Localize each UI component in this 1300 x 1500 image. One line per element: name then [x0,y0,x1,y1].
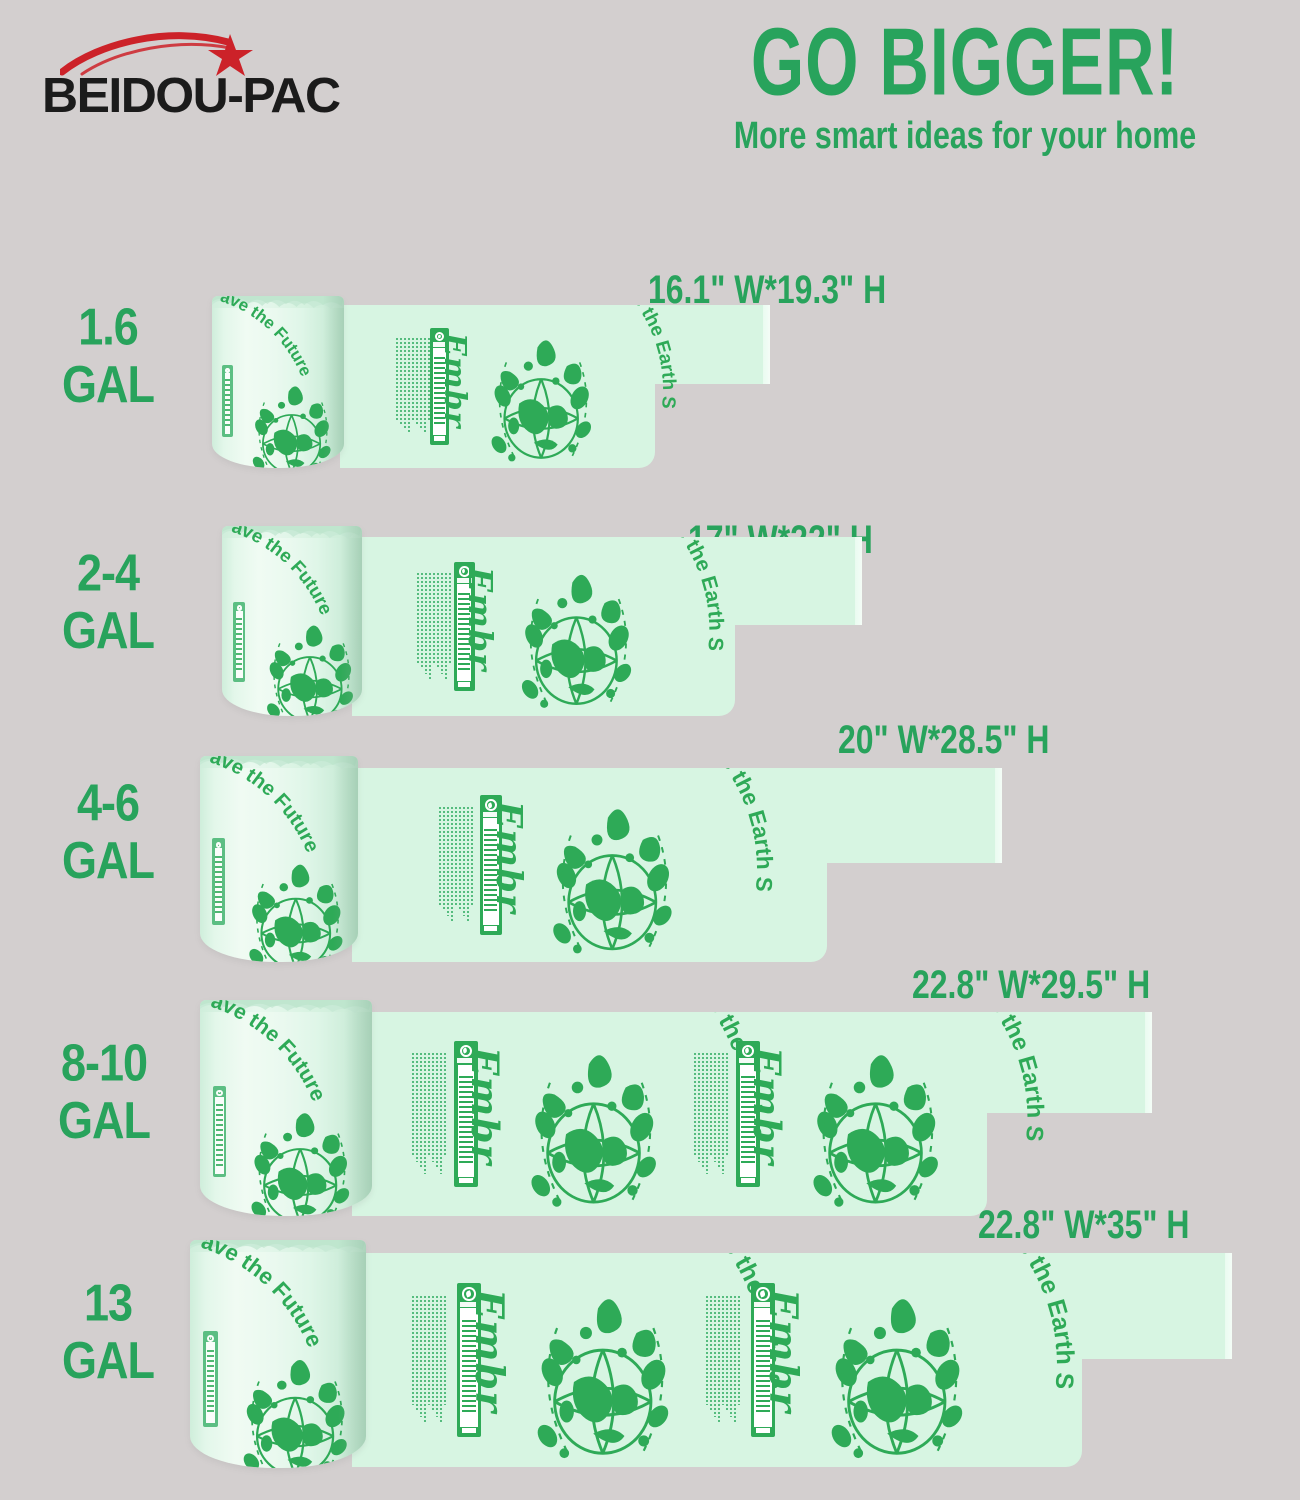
cert-home-label [756,1428,771,1433]
cert-home-label [741,1178,755,1183]
capacity-value: 1.6 [62,298,154,356]
bag-fine-print [694,1053,728,1179]
cert-home-label [462,1428,477,1433]
brand-logo: BEIDOU-PAC [40,28,440,138]
page-subtitle: More smart ideas for your home [666,114,1264,157]
bag-fine-print [412,1053,446,1179]
bag-brand-script-text: Embr [488,801,530,914]
bag-roll: ave the Future [200,1000,372,1216]
bag-capacity-label: 13GAL [62,1274,154,1390]
bag-capacity-label: 4-6GAL [62,774,154,890]
unrolled-bag-sheet: Embr [352,1253,1232,1467]
cert-home-label [484,926,497,931]
capacity-value: 4-6 [62,774,154,832]
bag-sheet-right-edge [855,537,862,625]
bag-printed-artwork: Embr [410,537,663,716]
cert-home-label [434,436,445,441]
bag-capacity-label: 1.6GAL [62,298,154,414]
capacity-unit: GAL [58,1092,150,1150]
bag-roll: ave the Future [200,756,358,962]
bag-capacity-label: 2-4GAL [62,544,154,660]
bag-brand-script-text: Embr [466,1289,512,1413]
bag-brand-script-text: Embr [437,333,472,428]
bag-slogan-arc-text: Save the Earth S [558,315,668,465]
bag-capacity-label: 8-10GAL [58,1034,150,1150]
bag-sheet-right-edge [995,768,1002,863]
bag-fine-print [417,573,451,684]
bag-printed-artwork: Embr [432,768,706,962]
bag-roll-shading [333,756,358,962]
bag-fine-print [439,807,473,927]
bag-sheet-right-edge [1145,1012,1152,1113]
bag-fine-print [396,338,430,439]
logo-wordmark: BEIDOU-PAC [42,68,340,124]
capacity-unit: GAL [62,1332,154,1390]
bag-slogan-arc-text: Save the Earth S [919,1266,1063,1463]
capacity-unit: GAL [62,602,154,660]
roll-earth-globe-illustration [248,1099,356,1216]
bag-slogan-arc-text: Save the Earth S [896,1024,1034,1212]
bag-roll: ave the Future [222,526,362,716]
bag-dimensions-label: 22.8" W*29.5" H [912,963,1150,1008]
bag-printed-artwork: Embr [698,1253,1000,1467]
bag-brand-script-text: Embr [461,567,500,671]
bag-slogan-arc-text: Save the Earth S [594,548,715,713]
bag-sheet-right-edge [763,305,770,384]
bag-fine-print [412,1296,446,1429]
capacity-value: 8-10 [58,1034,150,1092]
bag-roll: ave the Future [190,1240,366,1468]
capacity-value: 13 [62,1274,154,1332]
bag-roll-shading [340,526,362,716]
bag-roll-shading [344,1000,372,1216]
unrolled-bag-sheet: Embr [352,537,862,716]
bag-roll-shading [338,1240,366,1468]
unrolled-bag-sheet: Embr [340,305,770,468]
bag-roll: ave the Future [212,296,344,468]
bag-sheet-right-edge [1225,1253,1232,1359]
capacity-value: 2-4 [62,544,154,602]
unrolled-bag-sheet: Embr [352,768,1002,962]
bag-slogan-arc-text: Save the Earth S [632,780,763,958]
bag-printed-artwork: Embr [686,1012,974,1216]
bag-brand-script-text: Embr [760,1289,806,1413]
bag-brand-script-text: Embr [463,1047,507,1165]
bag-printed-artwork: Embr [404,1012,692,1216]
bag-fine-print [706,1296,740,1429]
bag-roll-shading [323,296,344,468]
bag-dimensions-label: 22.8" W*35" H [978,1203,1190,1248]
bag-brand-script-text: Embr [745,1047,789,1165]
header-banner: BEIDOU-PAC GO BIGGER! More smart ideas f… [0,0,1300,250]
headline-block: GO BIGGER! More smart ideas for your hom… [640,14,1290,152]
bag-printed-artwork: Embr [404,1253,706,1467]
cert-home-label [458,682,470,687]
page-title: GO BIGGER! [679,14,1251,109]
cert-home-label [459,1178,473,1183]
bag-dimensions-label: 20" W*28.5" H [838,718,1050,763]
capacity-unit: GAL [62,356,154,414]
unrolled-bag-sheet: Embr [352,1012,1152,1216]
bag-printed-artwork: Embr [390,305,620,468]
capacity-unit: GAL [62,832,154,890]
